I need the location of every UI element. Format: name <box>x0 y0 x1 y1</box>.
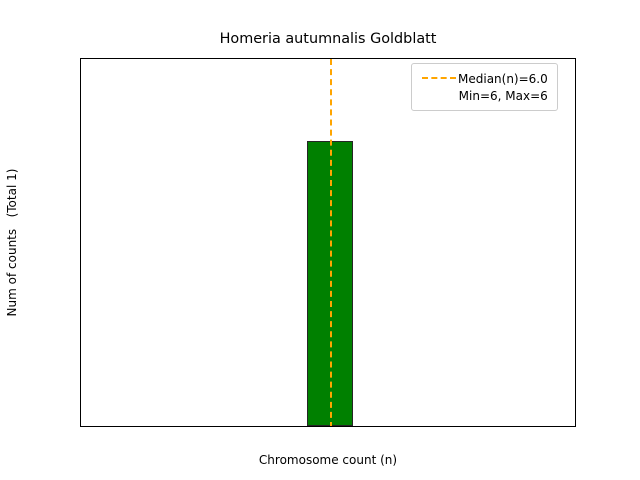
legend-entry-minmax: Min=6, Max=6 <box>420 87 548 104</box>
legend-label: Median(n)=6.0 <box>458 72 548 86</box>
page-title: Homeria autumnalis Goldblatt <box>80 31 576 48</box>
median-line <box>330 59 332 427</box>
ytick-mark <box>80 143 81 144</box>
chart-figure: Homeria autumnalis Goldblatt 0 1 6 Media… <box>0 0 640 480</box>
x-axis-label: Chromosome count (n) <box>80 453 576 467</box>
legend: Median(n)=6.0 Min=6, Max=6 <box>411 63 558 111</box>
plot-area: 0 1 6 Median(n)=6.0 Min=6, Max=6 <box>80 58 576 427</box>
legend-label: Min=6, Max=6 <box>458 89 548 103</box>
legend-entry-median: Median(n)=6.0 <box>420 70 548 87</box>
y-axis-label: Num of counts (Total 1) <box>0 58 24 427</box>
xtick-mark <box>329 426 330 427</box>
dashed-line-icon <box>420 70 458 87</box>
